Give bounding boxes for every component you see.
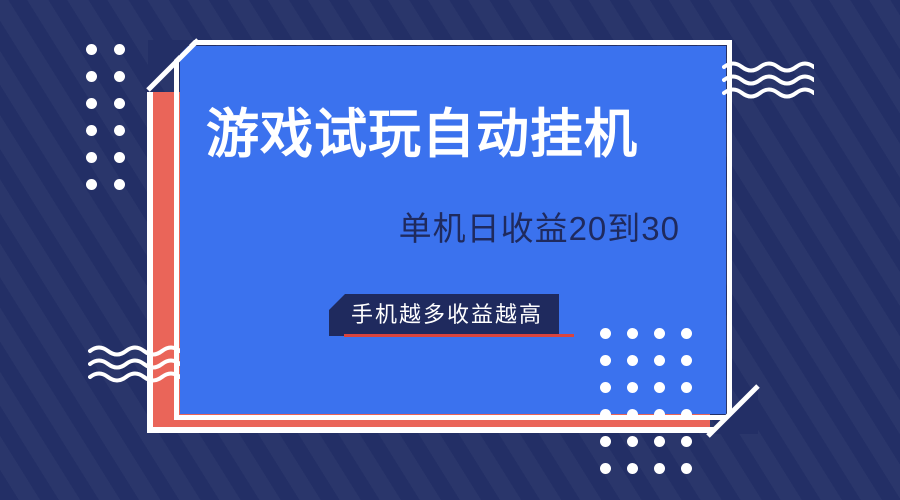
grid-dot [86,44,97,55]
grid-dot [627,382,638,393]
grid-dot [86,98,97,109]
grid-dot [681,382,692,393]
grid-dot [114,179,125,190]
grid-dot [114,98,125,109]
grid-dot [654,409,665,420]
grid-dot [600,382,611,393]
grid-dot [86,179,97,190]
grid-dot [114,71,125,82]
grid-dot [114,152,125,163]
grid-dot [681,463,692,474]
poster-canvas: 游戏试玩自动挂机 单机日收益20到30 手机越多收益越高 [0,0,900,500]
grid-dot [654,382,665,393]
grid-dot [600,436,611,447]
grid-dot [86,125,97,136]
dot-grid-left [86,44,142,206]
grid-dot [627,409,638,420]
grid-dot [114,125,125,136]
grid-dot [600,355,611,366]
grid-dot [681,409,692,420]
grid-dot [627,436,638,447]
grid-dot [600,409,611,420]
poster-headline: 游戏试玩自动挂机 [206,108,706,161]
grid-dot [654,328,665,339]
badge-underline [344,334,574,337]
grid-dot [681,328,692,339]
grid-dot [627,463,638,474]
poster-subline: 单机日收益20到30 [206,212,680,245]
grid-dot [600,463,611,474]
grid-dot [600,328,611,339]
grid-dot [654,436,665,447]
grid-dot [114,44,125,55]
poster-badge: 手机越多收益越高 [329,294,559,336]
wave-decoration-top-right [722,58,814,102]
grid-dot [86,152,97,163]
grid-dot [681,436,692,447]
grid-dot [627,355,638,366]
grid-dot [86,71,97,82]
grid-dot [654,463,665,474]
grid-dot [627,328,638,339]
dot-grid-right [600,328,708,490]
grid-dot [681,355,692,366]
grid-dot [654,355,665,366]
